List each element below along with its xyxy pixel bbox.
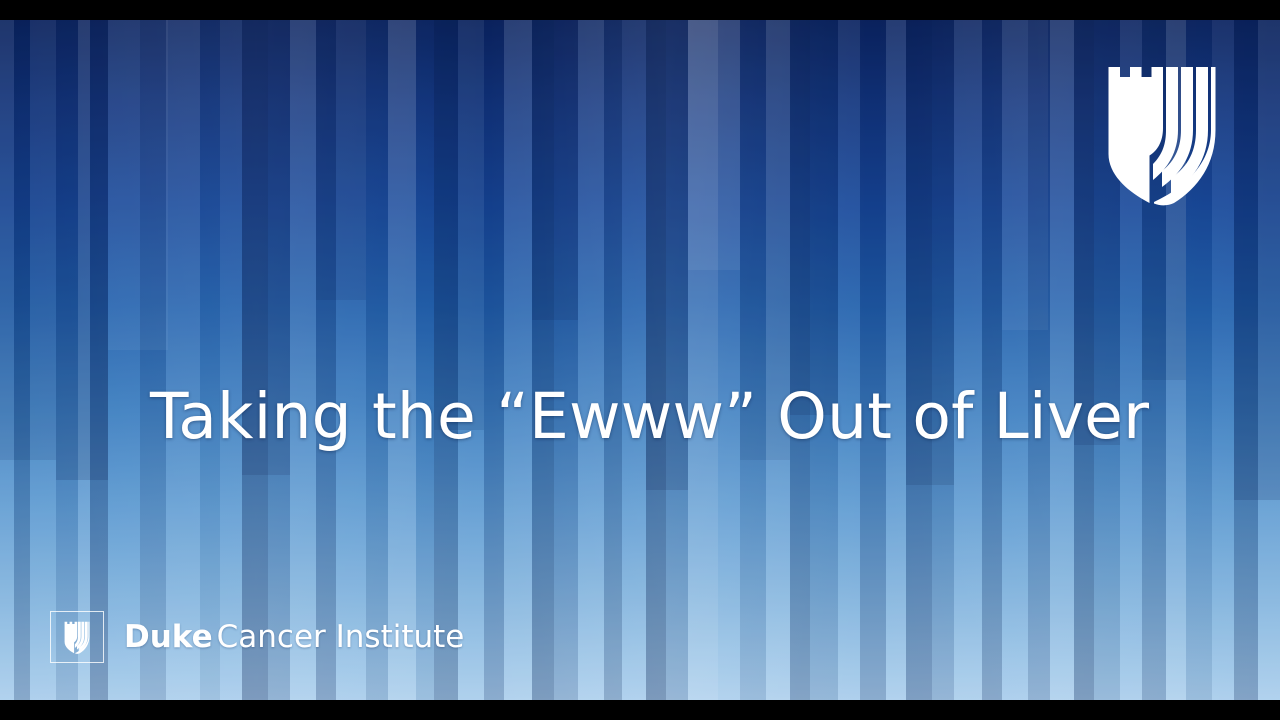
background-block: [1002, 20, 1048, 330]
background-block: [1234, 20, 1280, 500]
background-block: [532, 20, 578, 320]
dci-wordmark-light: Cancer Institute: [217, 619, 465, 655]
dci-wordmark: DukeCancer Institute: [124, 622, 464, 653]
dci-wordmark-bold: Duke: [124, 619, 213, 655]
slide-title: Taking the “Ewww” Out of Liver: [150, 384, 1130, 450]
background-block: [316, 20, 366, 300]
background-block: [0, 20, 56, 460]
background-block: [434, 20, 484, 430]
presentation-slide: Taking the “Ewww” Out of Liver: [0, 0, 1280, 720]
duke-shield-small-icon: [64, 621, 90, 654]
letterbox-top: [0, 0, 1280, 20]
slide-canvas: Taking the “Ewww” Out of Liver: [0, 20, 1280, 700]
duke-shield-icon: [1106, 64, 1218, 206]
dci-shield-box: [50, 611, 104, 663]
background-blocks: [0, 20, 1280, 700]
background-block: [688, 20, 740, 270]
background-block: [790, 20, 838, 415]
letterbox-bottom: [0, 700, 1280, 720]
background-block: [56, 20, 108, 480]
background-block: [108, 20, 168, 350]
duke-cancer-institute-logo: DukeCancer Institute: [50, 611, 464, 663]
